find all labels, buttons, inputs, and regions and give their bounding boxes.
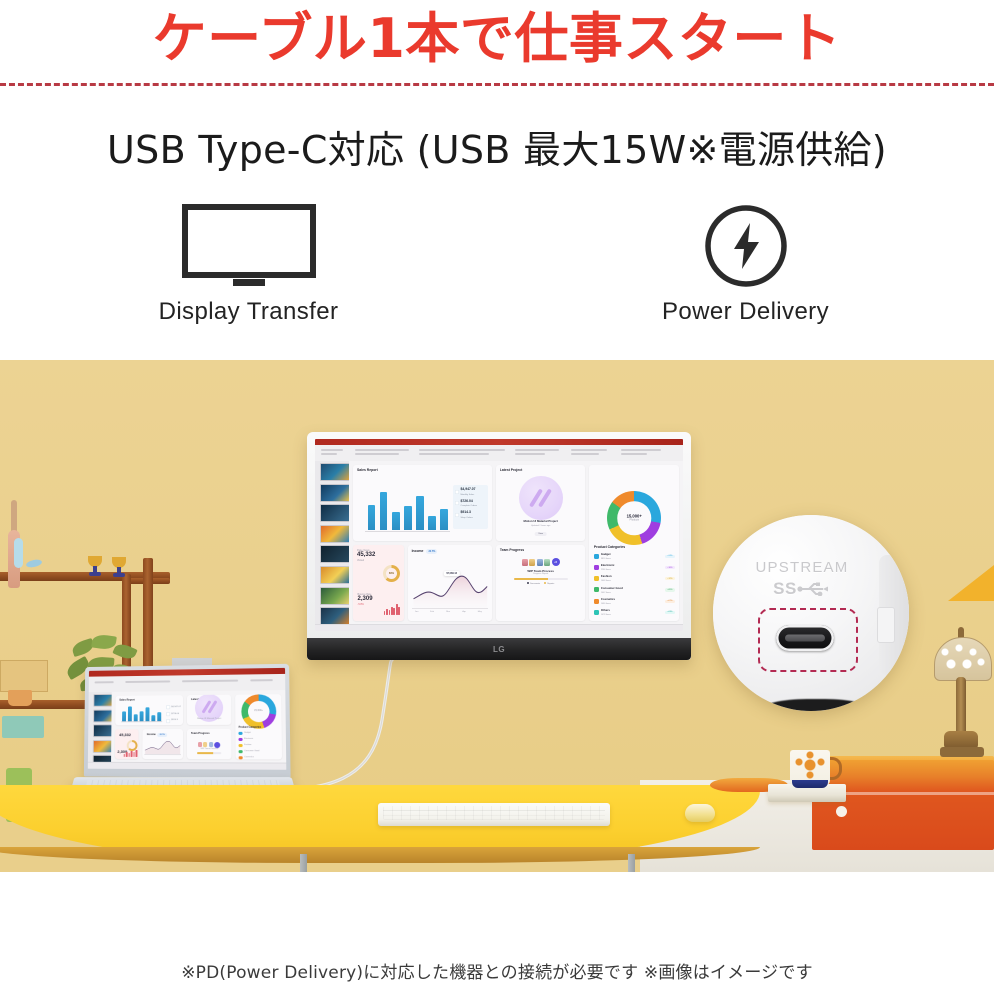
card-page-views: Page Views 45,332 Visited 68% Bounce Rat…: [353, 545, 404, 621]
category-row[interactable]: Consumer Good 1442 Items +09%: [594, 586, 675, 595]
laptop-category-name: Consumer Good: [244, 751, 259, 754]
callout-stand-shadow: [761, 699, 871, 711]
card-product-categories: 15,000+ Products Product Categories Gadg…: [589, 465, 679, 621]
sales-legend-row: $726.04 Complete Orders: [455, 499, 488, 508]
wireless-mouse[interactable]: [685, 804, 715, 822]
usb-port-callout-magnifier: UPSTREAM SS: [713, 515, 909, 711]
goblet-left: [88, 556, 102, 576]
category-color-icon: [239, 744, 242, 747]
feature-label-power-delivery: Power Delivery: [662, 298, 829, 326]
card-latest-project: Latest Project Motion UI Material Projec…: [496, 465, 586, 541]
income-x-tick: May: [478, 611, 482, 613]
pageviews-value: 45,332: [357, 552, 400, 559]
products-donut-chart: 15,000+ Products: [607, 491, 661, 545]
category-color-icon: [239, 732, 242, 735]
orange-pot: [8, 690, 32, 706]
goblet-right: [112, 557, 126, 577]
category-row[interactable]: Cosmetics 1080 Items +07%: [594, 597, 675, 606]
slide-thumbnail[interactable]: [320, 484, 350, 502]
team-avatar-group: +5: [500, 558, 582, 566]
laptop-income-badge: 22.7%: [158, 733, 167, 737]
dashed-divider: [0, 83, 994, 86]
superspeed-usb-icon: SS: [713, 579, 891, 599]
income-line-chart: Jan Feb Mar Apr May $7,068.13: [412, 568, 489, 609]
usb-c-port: [776, 625, 834, 651]
bounce-delta: -5.8%: [358, 603, 373, 606]
laptop-sales-legend: $4,947.07 $726.04 $914.3: [164, 703, 181, 720]
card-income: Income 22.7%: [408, 545, 492, 621]
laptop-products-donut: 15,000+: [241, 694, 276, 728]
project-subtext: Updated 2 hours ago: [496, 525, 586, 527]
project-blob-graphic: [519, 476, 563, 520]
pageviews-progress-ring: 68%: [383, 565, 400, 582]
monitor-chin: LG: [307, 638, 691, 660]
category-row[interactable]: Gadget 3820 Items +24%: [594, 552, 675, 561]
category-badge: +24%: [665, 555, 674, 558]
feature-display-transfer: Display Transfer: [0, 200, 497, 350]
avatar: [522, 559, 528, 566]
shelf-box: [0, 660, 48, 692]
retro-coffee-mug: [790, 750, 836, 792]
legend-label: Complete Orders: [460, 505, 477, 507]
slide-thumbnail[interactable]: [320, 545, 350, 563]
slide-thumbnail[interactable]: [93, 740, 113, 753]
category-badge: +16%: [665, 566, 674, 569]
sales-report-title: Sales Report: [357, 469, 488, 472]
upstream-label: UPSTREAM: [713, 559, 891, 576]
laptop-screen[interactable]: Sales Report: [88, 668, 287, 770]
pageviews-ring-value: 68%: [386, 568, 397, 579]
feature-power-delivery: Power Delivery: [497, 200, 994, 350]
laptop-team-headline: WIP Team Process: [191, 748, 228, 750]
slide-thumbnail[interactable]: [320, 566, 350, 584]
monitor-icon: [181, 200, 317, 292]
legend-value: $4,947.07: [171, 706, 181, 708]
category-name: Others: [601, 608, 610, 612]
avatar: [544, 559, 550, 566]
laptop: Sales Report: [72, 665, 294, 805]
legend-value: $726.04: [171, 713, 179, 715]
income-x-tick: Feb: [430, 611, 434, 613]
product-lifestyle-photo: Sales Report: [0, 360, 994, 872]
laptop-sales-bars: [121, 704, 162, 721]
laptop-card-sales-report: Sales Report: [115, 695, 183, 725]
legend-value: $4,947.07: [460, 487, 475, 491]
category-sub: 1442 Items: [601, 592, 611, 594]
income-x-tick: Apr: [462, 611, 465, 613]
category-badge: +07%: [665, 600, 674, 603]
slide-thumbnail[interactable]: [93, 709, 113, 722]
app-toolbar: [315, 445, 683, 462]
laptop-slide-panel[interactable]: [88, 692, 112, 763]
product-categories-title: Product Categories: [594, 546, 675, 549]
feature-label-display-transfer: Display Transfer: [159, 298, 339, 326]
app-status-bar: [315, 624, 683, 631]
donut-sublabel: Products: [629, 518, 638, 521]
category-sub: 1078 Items: [601, 614, 611, 616]
row2-left-group: Page Views 45,332 Visited 68% Bounce Rat…: [353, 545, 492, 621]
laptop-card-income: Income 22.7%: [143, 729, 183, 759]
teal-storage-box: [2, 716, 44, 738]
category-color-icon: [594, 610, 599, 615]
tiffany-table-lamp: [930, 615, 994, 775]
laptop-card-page-views: 45,332 2,309: [115, 729, 139, 759]
slide-thumbnail[interactable]: [320, 504, 350, 522]
team-legend-label: Documents: [530, 583, 540, 585]
team-progress-title: Team Progress: [500, 549, 582, 552]
category-badge: +03%: [665, 611, 674, 614]
team-legend-label: Reports: [547, 583, 554, 585]
category-name: Cosmetics: [601, 597, 615, 601]
laptop-lid: Sales Report: [84, 664, 291, 778]
laptop-pageviews-value: 45,332: [119, 733, 135, 737]
category-color-icon: [594, 554, 599, 559]
subtitle-text: USB Type-C対応 (USB 最大15W※電源供給): [107, 119, 887, 174]
category-badge: +12%: [665, 577, 674, 580]
laptop-category-name: Cosmetics: [244, 757, 254, 760]
category-name: Consumer Good: [601, 586, 623, 590]
category-color-icon: [239, 756, 242, 759]
category-color-icon: [594, 576, 599, 581]
monitor-screen[interactable]: Sales Report: [315, 439, 683, 631]
slide-thumbnail[interactable]: [320, 607, 350, 625]
card-team-progress: Team Progress +5 WIP Team Process Progre: [496, 545, 586, 621]
category-name: Fashion: [601, 574, 612, 578]
headline-banner: ケーブル1本で仕事スタート: [0, 0, 994, 78]
external-monitor: Sales Report: [307, 432, 691, 660]
category-name: Electronic: [601, 563, 615, 567]
legend-swatch-icon: [166, 706, 170, 710]
footnote-disclaimer: ※PD(Power Delivery)に対応した機器との接続が必要です ※画像は…: [0, 958, 994, 983]
dried-reed-decor: [11, 500, 17, 534]
income-x-tick: Jan: [415, 611, 419, 613]
feature-icon-row: Display Transfer Power Delivery: [0, 200, 994, 350]
category-sub: 1080 Items: [601, 603, 611, 605]
laptop-category-name: Electronic: [244, 738, 253, 741]
laptop-category-name: Fashion: [244, 744, 251, 747]
legend-label: Shop Orders: [460, 517, 472, 519]
laptop-card-team-progress: Team Progress WIP Team Process: [187, 729, 232, 759]
wall-triangle-decor: [948, 565, 994, 601]
slide-thumbnail-panel[interactable]: [315, 461, 349, 625]
category-color-icon: [239, 738, 242, 741]
team-progress-legend: Documents Reports: [500, 582, 582, 585]
sales-legend-row: $914.3 Shop Orders: [455, 510, 488, 519]
income-x-tick: Mar: [446, 611, 450, 613]
ss-text: SS: [773, 579, 797, 598]
category-sub: 3820 Items: [601, 558, 611, 560]
laptop-dashboard-app: Sales Report: [88, 668, 287, 770]
laptop-donut-value: 15,000+: [254, 709, 263, 712]
legend-value: $914.3: [171, 719, 178, 721]
legend-swatch-icon: [166, 712, 170, 716]
category-name: Gadget: [601, 552, 611, 556]
bounce-minibars: [384, 603, 401, 615]
income-title: Income: [412, 550, 424, 553]
cabinet-knob: [836, 806, 847, 817]
slide-thumbnail[interactable]: [93, 724, 113, 737]
avatar-more-count[interactable]: +5: [552, 558, 560, 566]
legend-value: $914.3: [460, 510, 470, 514]
category-sub: 1648 Items: [601, 580, 611, 582]
project-view-button[interactable]: View: [534, 532, 547, 536]
laptop-card-products: 15,000+ Product Categories Gadget Electr…: [236, 694, 282, 759]
income-tooltip: $7,068.13: [444, 571, 459, 576]
laptop-categories-title: Product Categories: [239, 727, 279, 730]
category-badge: +09%: [665, 588, 674, 591]
legend-label: Monthly Sales: [460, 494, 474, 496]
avatar: [529, 559, 535, 566]
category-color-icon: [594, 565, 599, 570]
monitor-brand-logo: LG: [493, 645, 505, 654]
slide-thumbnail[interactable]: [93, 694, 113, 707]
legend-value: $726.04: [460, 499, 472, 503]
footnote-text: ※PD(Power Delivery)に対応した機器との接続が必要です ※画像は…: [181, 963, 813, 983]
keyboard-keys[interactable]: [383, 806, 605, 820]
slide-thumbnail[interactable]: [320, 525, 350, 543]
laptop-income-title: Income: [147, 734, 156, 737]
bounce-value: 2,309: [358, 596, 373, 603]
pageviews-sub: Visited: [357, 559, 400, 562]
slide-thumbnail[interactable]: [320, 587, 350, 605]
adjacent-port-slot: [877, 607, 895, 643]
category-row[interactable]: Fashion 1648 Items +12%: [594, 574, 675, 583]
legend-swatch-icon: [455, 501, 459, 505]
sales-bar-chart: [365, 488, 450, 531]
avatar: [537, 559, 543, 566]
blue-bottle: [14, 538, 23, 568]
project-name: Motion UI Material Project: [496, 519, 586, 523]
category-color-icon: [594, 587, 599, 592]
headline-text: ケーブル1本で仕事スタート: [153, 12, 842, 66]
laptop-team-title: Team Progress: [191, 733, 228, 736]
slide-thumbnail[interactable]: [320, 463, 350, 481]
power-bolt-icon: [703, 200, 789, 292]
subtitle-banner: USB Type-C対応 (USB 最大15W※電源供給): [0, 110, 994, 182]
desk-leg-left: [300, 854, 307, 872]
card-sales-report: Sales Report: [353, 465, 492, 541]
laptop-project-name: Motion UI Material Project: [187, 717, 232, 719]
laptop-dashboard-canvas: Sales Report: [111, 690, 286, 764]
category-color-icon: [239, 750, 242, 753]
dashboard-app-window: Sales Report: [315, 439, 683, 631]
legend-swatch-icon: [455, 490, 459, 494]
team-progress-sub: Progress Report: [500, 573, 582, 575]
laptop-sales-title: Sales Report: [119, 699, 179, 702]
sales-legend-panel: $4,947.07 Monthly Sales $726.04 C: [453, 485, 488, 529]
category-color-icon: [594, 599, 599, 604]
legend-swatch-icon: [166, 719, 170, 723]
legend-swatch-icon: [455, 513, 459, 517]
dashboard-canvas: Sales Report: [349, 461, 683, 625]
income-badge: 22.7%: [426, 549, 437, 554]
sales-legend-row: $4,947.07 Monthly Sales: [455, 487, 488, 496]
desk-leg-right: [628, 854, 635, 872]
category-row[interactable]: Electronic 2284 Items +16%: [594, 563, 675, 572]
laptop-category-name: Gadget: [244, 732, 251, 735]
latest-project-title: Latest Project: [500, 469, 582, 472]
laptop-card-latest-project: Latest Project Motion UI Material Projec…: [187, 695, 232, 725]
team-progress-bar: [514, 578, 568, 580]
category-sub: 2284 Items: [601, 569, 611, 571]
category-row[interactable]: Others 1078 Items +03%: [594, 608, 675, 617]
wireless-keyboard[interactable]: [378, 803, 610, 826]
